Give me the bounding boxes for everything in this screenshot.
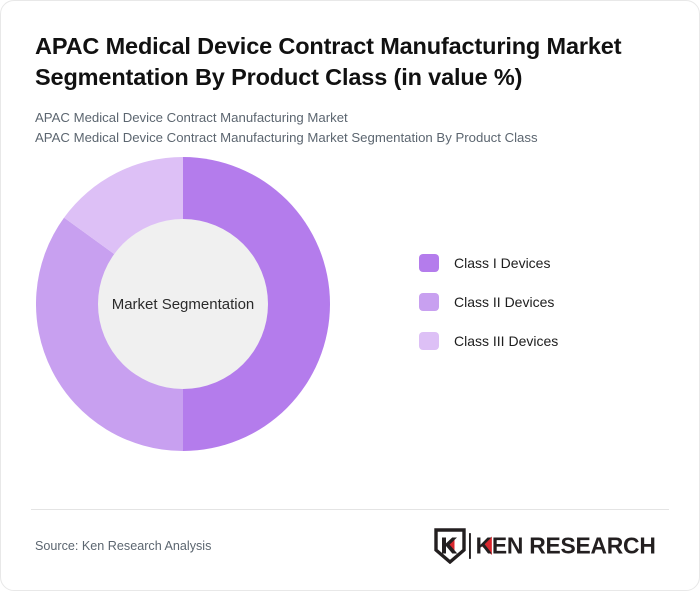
footer-divider — [31, 509, 669, 510]
wordmark-divider-bar — [469, 533, 471, 559]
chart-footer: Source: Ken Research Analysis KEN RESEAR… — [35, 526, 669, 566]
chart-header: APAC Medical Device Contract Manufacturi… — [1, 1, 699, 148]
legend-item-class-iii[interactable]: Class III Devices — [419, 332, 558, 350]
legend-swatch-icon — [419, 293, 439, 311]
legend-item-label: Class II Devices — [454, 294, 554, 310]
donut-hole — [98, 219, 268, 389]
ken-research-wordmark: KEN RESEARCH — [469, 533, 669, 559]
legend-swatch-icon — [419, 254, 439, 272]
legend-item-label: Class I Devices — [454, 255, 550, 271]
wordmark-text: KEN RESEARCH — [476, 533, 656, 559]
legend-item-class-ii[interactable]: Class II Devices — [419, 293, 558, 311]
chart-plot-area: Market Segmentation Class I Devices Clas… — [1, 148, 699, 478]
legend-swatch-icon — [419, 332, 439, 350]
subtitle-segmentation: APAC Medical Device Contract Manufacturi… — [35, 128, 665, 148]
chart-card: APAC Medical Device Contract Manufacturi… — [0, 0, 700, 591]
ken-research-logo: KEN RESEARCH — [434, 528, 669, 564]
donut-svg — [36, 157, 330, 451]
page-title: APAC Medical Device Contract Manufacturi… — [35, 31, 665, 94]
legend-item-class-i[interactable]: Class I Devices — [419, 254, 558, 272]
legend-item-label: Class III Devices — [454, 333, 558, 349]
ken-research-shield-icon — [434, 528, 466, 564]
subtitle-market: APAC Medical Device Contract Manufacturi… — [35, 108, 665, 128]
subtitle-group: APAC Medical Device Contract Manufacturi… — [35, 108, 665, 149]
donut-chart: Market Segmentation — [36, 157, 330, 451]
source-note: Source: Ken Research Analysis — [35, 539, 211, 553]
chart-legend: Class I Devices Class II Devices Class I… — [419, 254, 558, 350]
